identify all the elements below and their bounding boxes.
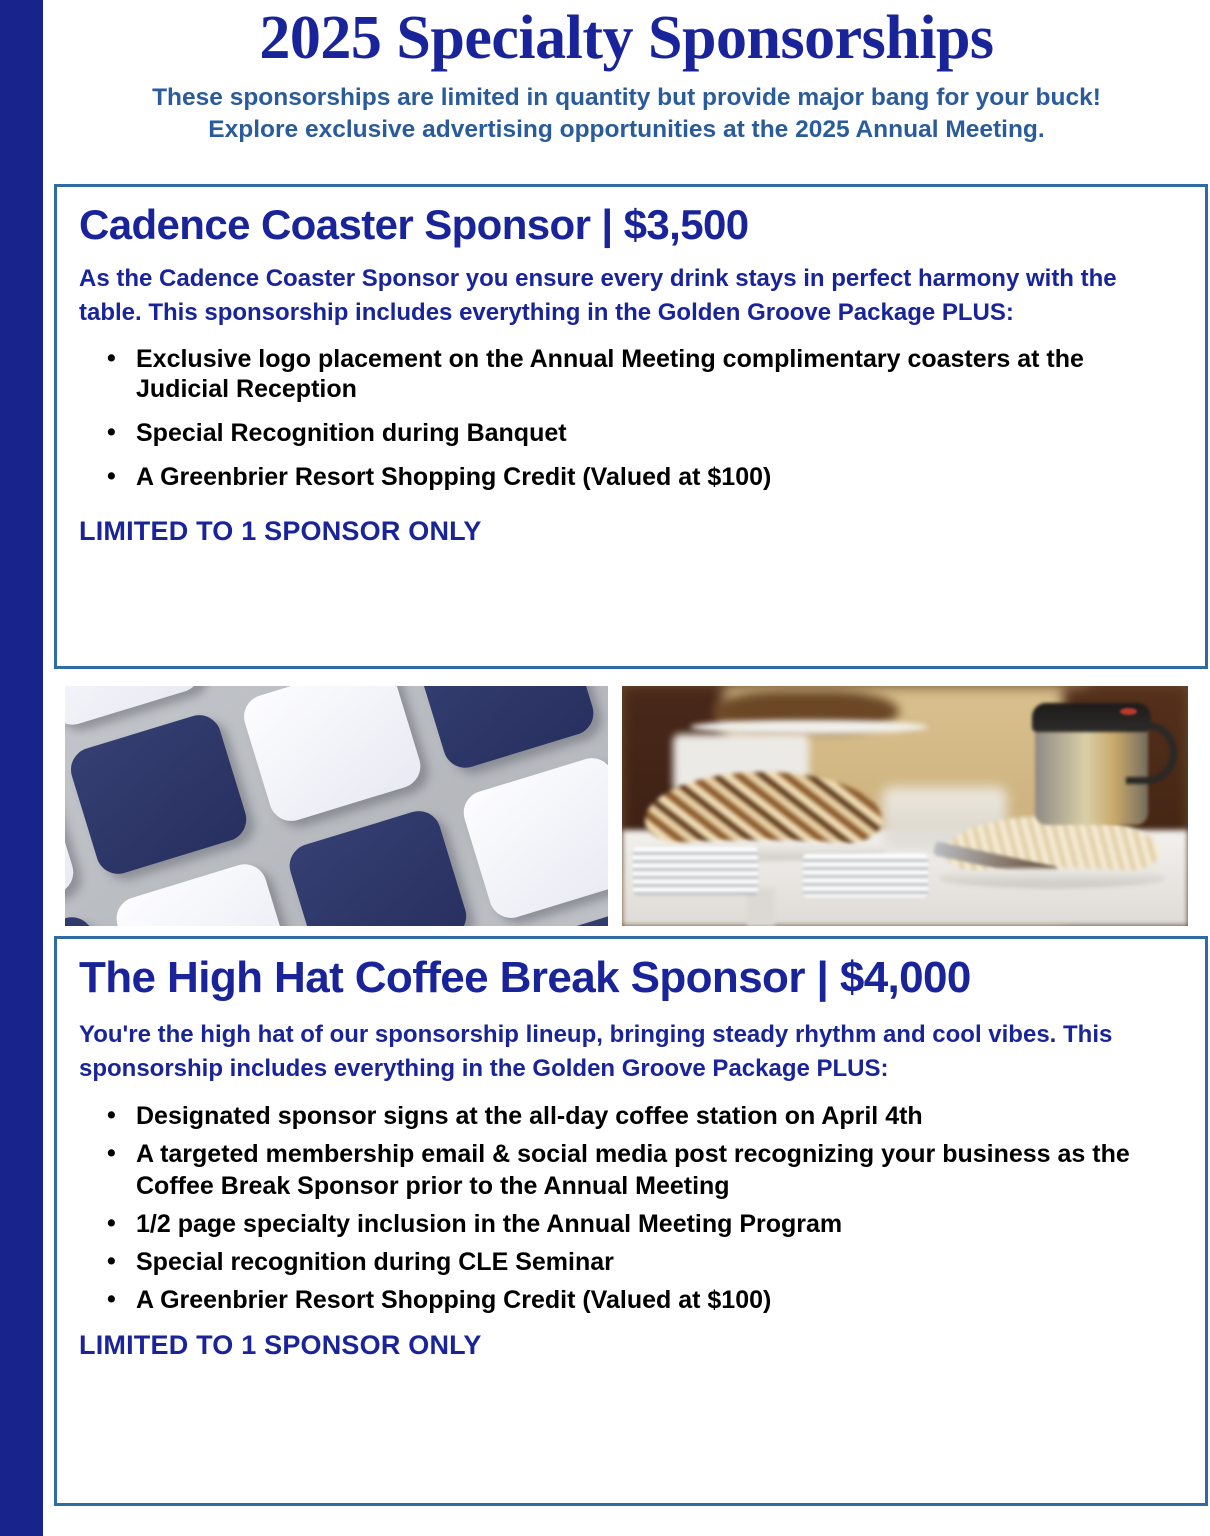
coffee-break-photo [622,686,1188,926]
scone-tray-plate [939,868,1165,887]
coffee-break-scene [622,686,1188,926]
list-item: Exclusive logo placement on the Annual M… [79,344,1183,404]
content-column: 2025 Specialty Sponsorships These sponso… [43,0,1210,1536]
stacked-plates-center [803,854,928,897]
list-item: Designated sponsor signs at the all-day … [79,1100,1183,1132]
list-item: A Greenbrier Resort Shopping Credit (Val… [79,462,1183,492]
page-subtitle-line-2: Explore exclusive advertising opportunit… [53,114,1200,145]
coaster-tile [111,859,298,926]
page-subtitle-line-1: These sponsorships are limited in quanti… [53,82,1200,113]
sponsorship-card-high-hat-coffee-break: The High Hat Coffee Break Sponsor | $4,0… [54,936,1208,1506]
left-accent-bar [0,0,43,1536]
list-item: A targeted membership email & social med… [79,1138,1183,1202]
benefits-list: Designated sponsor signs at the all-day … [79,1100,1183,1316]
list-item: Special Recognition during Banquet [79,418,1183,448]
benefits-list: Exclusive logo placement on the Annual M… [79,344,1183,492]
list-item: 1/2 page specialty inclusion in the Annu… [79,1208,1183,1240]
flyer-page: 2025 Specialty Sponsorships These sponso… [0,0,1210,1536]
photo-band [43,686,1210,926]
coaster-tile [285,806,472,926]
coaster-tile [412,686,599,773]
card-title: The High Hat Coffee Break Sponsor | $4,0… [79,953,1183,1002]
coaster-photo [65,686,608,926]
coffee-carafe-button [1120,708,1137,715]
coaster-grid [65,686,608,926]
stacked-plates-left [633,847,758,895]
coaster-tile [458,753,608,923]
list-item: Special recognition during CLE Seminar [79,1246,1183,1278]
list-item: A Greenbrier Resort Shopping Credit (Val… [79,1284,1183,1316]
upper-stand-plate [690,720,928,734]
sponsorship-card-cadence-coaster: Cadence Coaster Sponsor | $3,500 As the … [54,184,1208,669]
card-title: Cadence Coaster Sponsor | $3,500 [79,201,1183,248]
card-description: As the Cadence Coaster Sponsor you ensur… [79,262,1183,330]
coaster-tile [239,686,426,826]
page-title: 2025 Specialty Sponsorships [43,4,1210,72]
limited-availability-note: LIMITED TO 1 SPONSOR ONLY [79,1330,1183,1361]
page-subtitle: These sponsorships are limited in quanti… [43,82,1210,145]
coaster-tile [66,709,253,879]
limited-availability-note: LIMITED TO 1 SPONSOR ONLY [79,516,1183,547]
card-description: You're the high hat of our sponsorship l… [79,1018,1183,1086]
